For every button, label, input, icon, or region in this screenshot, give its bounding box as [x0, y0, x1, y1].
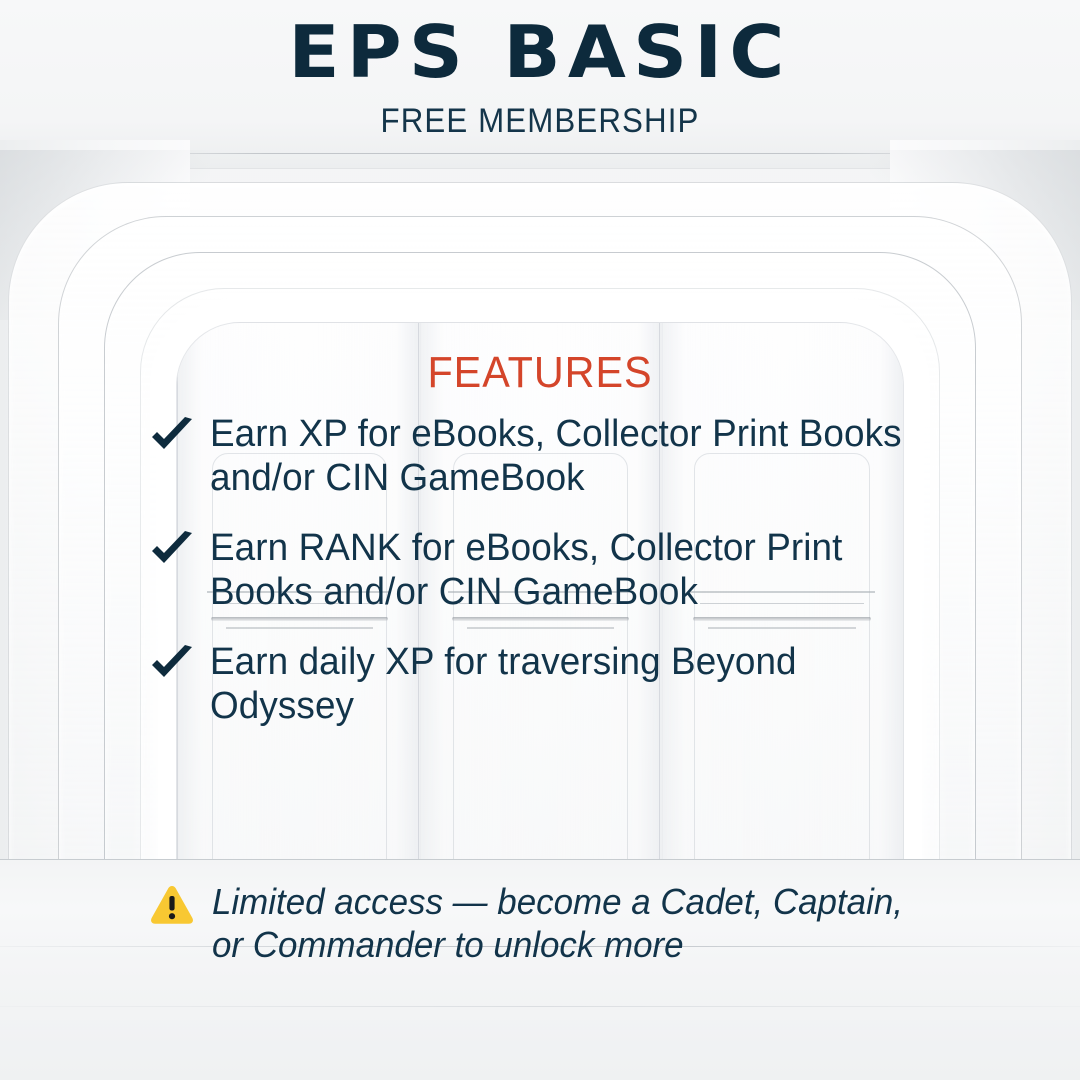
page-subtitle: FREE MEMBERSHIP: [43, 102, 1037, 141]
list-item: Earn daily XP for traversing Beyond Odys…: [150, 640, 950, 728]
feature-list: Earn XP for eBooks, Collector Print Book…: [150, 412, 950, 754]
list-item-label: Earn XP for eBooks, Collector Print Book…: [210, 412, 918, 500]
list-item-label: Earn RANK for eBooks, Collector Print Bo…: [210, 526, 918, 614]
features-heading: FEATURES: [32, 348, 1047, 398]
page-title: EPS BASIC: [0, 16, 1080, 88]
check-icon: [150, 416, 194, 456]
warning-triangle-icon: [150, 884, 194, 926]
membership-tier-card: EPS BASIC FREE MEMBERSHIP FEATURES Earn …: [0, 0, 1080, 1080]
check-icon: [150, 644, 194, 684]
limited-access-note: Limited access — become a Cadet, Captain…: [150, 880, 960, 966]
list-item: Earn RANK for eBooks, Collector Print Bo…: [150, 526, 950, 614]
check-icon: [150, 530, 194, 570]
list-item: Earn XP for eBooks, Collector Print Book…: [150, 412, 950, 500]
list-item-label: Earn daily XP for traversing Beyond Odys…: [210, 640, 918, 728]
header: EPS BASIC FREE MEMBERSHIP: [0, 16, 1080, 141]
limited-access-label: Limited access — become a Cadet, Captain…: [212, 880, 938, 966]
